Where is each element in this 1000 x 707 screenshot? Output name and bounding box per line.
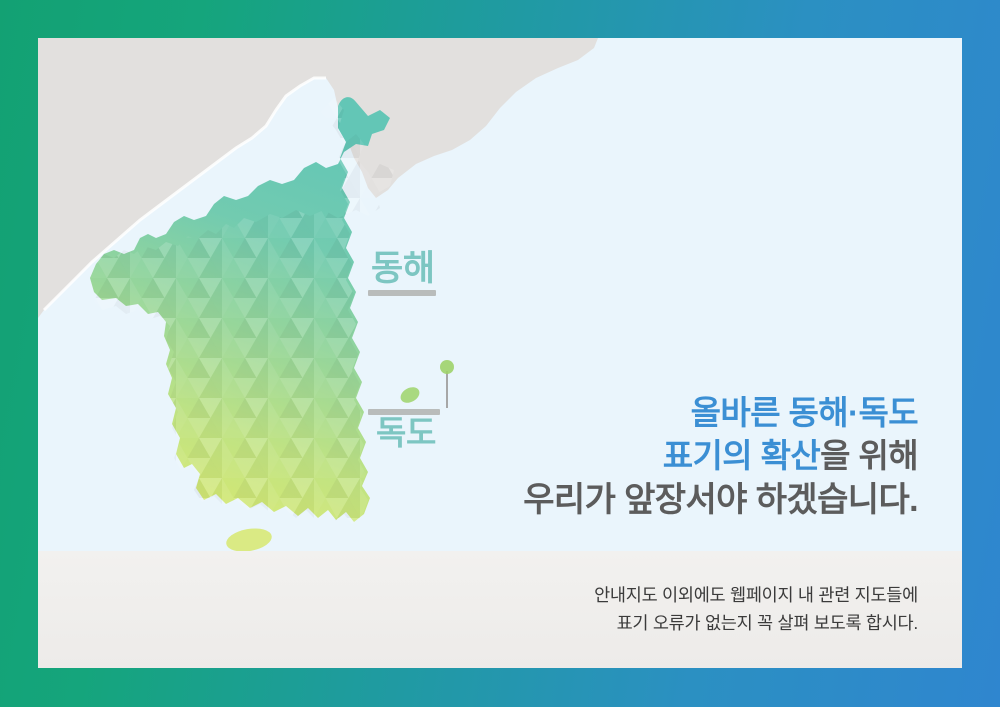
island-dokdo <box>440 360 454 374</box>
headline-line-1: 올바른 동해·독도 <box>418 392 918 435</box>
footer-band: 안내지도 이외에도 웹페이지 내 관련 지도들에 표기 오류가 없는지 꼭 살펴… <box>38 551 962 668</box>
headline-line-3: 우리가 앞장서야 하겠습니다. <box>418 478 918 522</box>
donghae-label: 동해 <box>371 251 435 286</box>
headline-line-2-accent: 표기의 확산 <box>663 437 820 474</box>
headline-line-2: 표기의 확산을 위해 <box>418 435 918 478</box>
headline-line-1-accent: 올바른 동해·독도 <box>691 394 918 431</box>
poster-canvas: 동해 독도 올바른 동해·독도 표기의 확산을 위해 우리가 앞장서야 하겠습니… <box>0 0 1000 707</box>
headline: 올바른 동해·독도 표기의 확산을 위해 우리가 앞장서야 하겠습니다. <box>418 392 918 522</box>
poster-card: 동해 독도 올바른 동해·독도 표기의 확산을 위해 우리가 앞장서야 하겠습니… <box>38 38 962 668</box>
headline-line-2-plain: 을 위해 <box>820 437 918 474</box>
footer-caption-line-2: 표기 오류가 없는지 꼭 살펴 보도록 합시다. <box>358 609 918 637</box>
footer-caption: 안내지도 이외에도 웹페이지 내 관련 지도들에 표기 오류가 없는지 꼭 살펴… <box>358 581 918 638</box>
footer-caption-line-1: 안내지도 이외에도 웹페이지 내 관련 지도들에 <box>358 581 918 609</box>
donghae-label-rule <box>368 290 436 296</box>
